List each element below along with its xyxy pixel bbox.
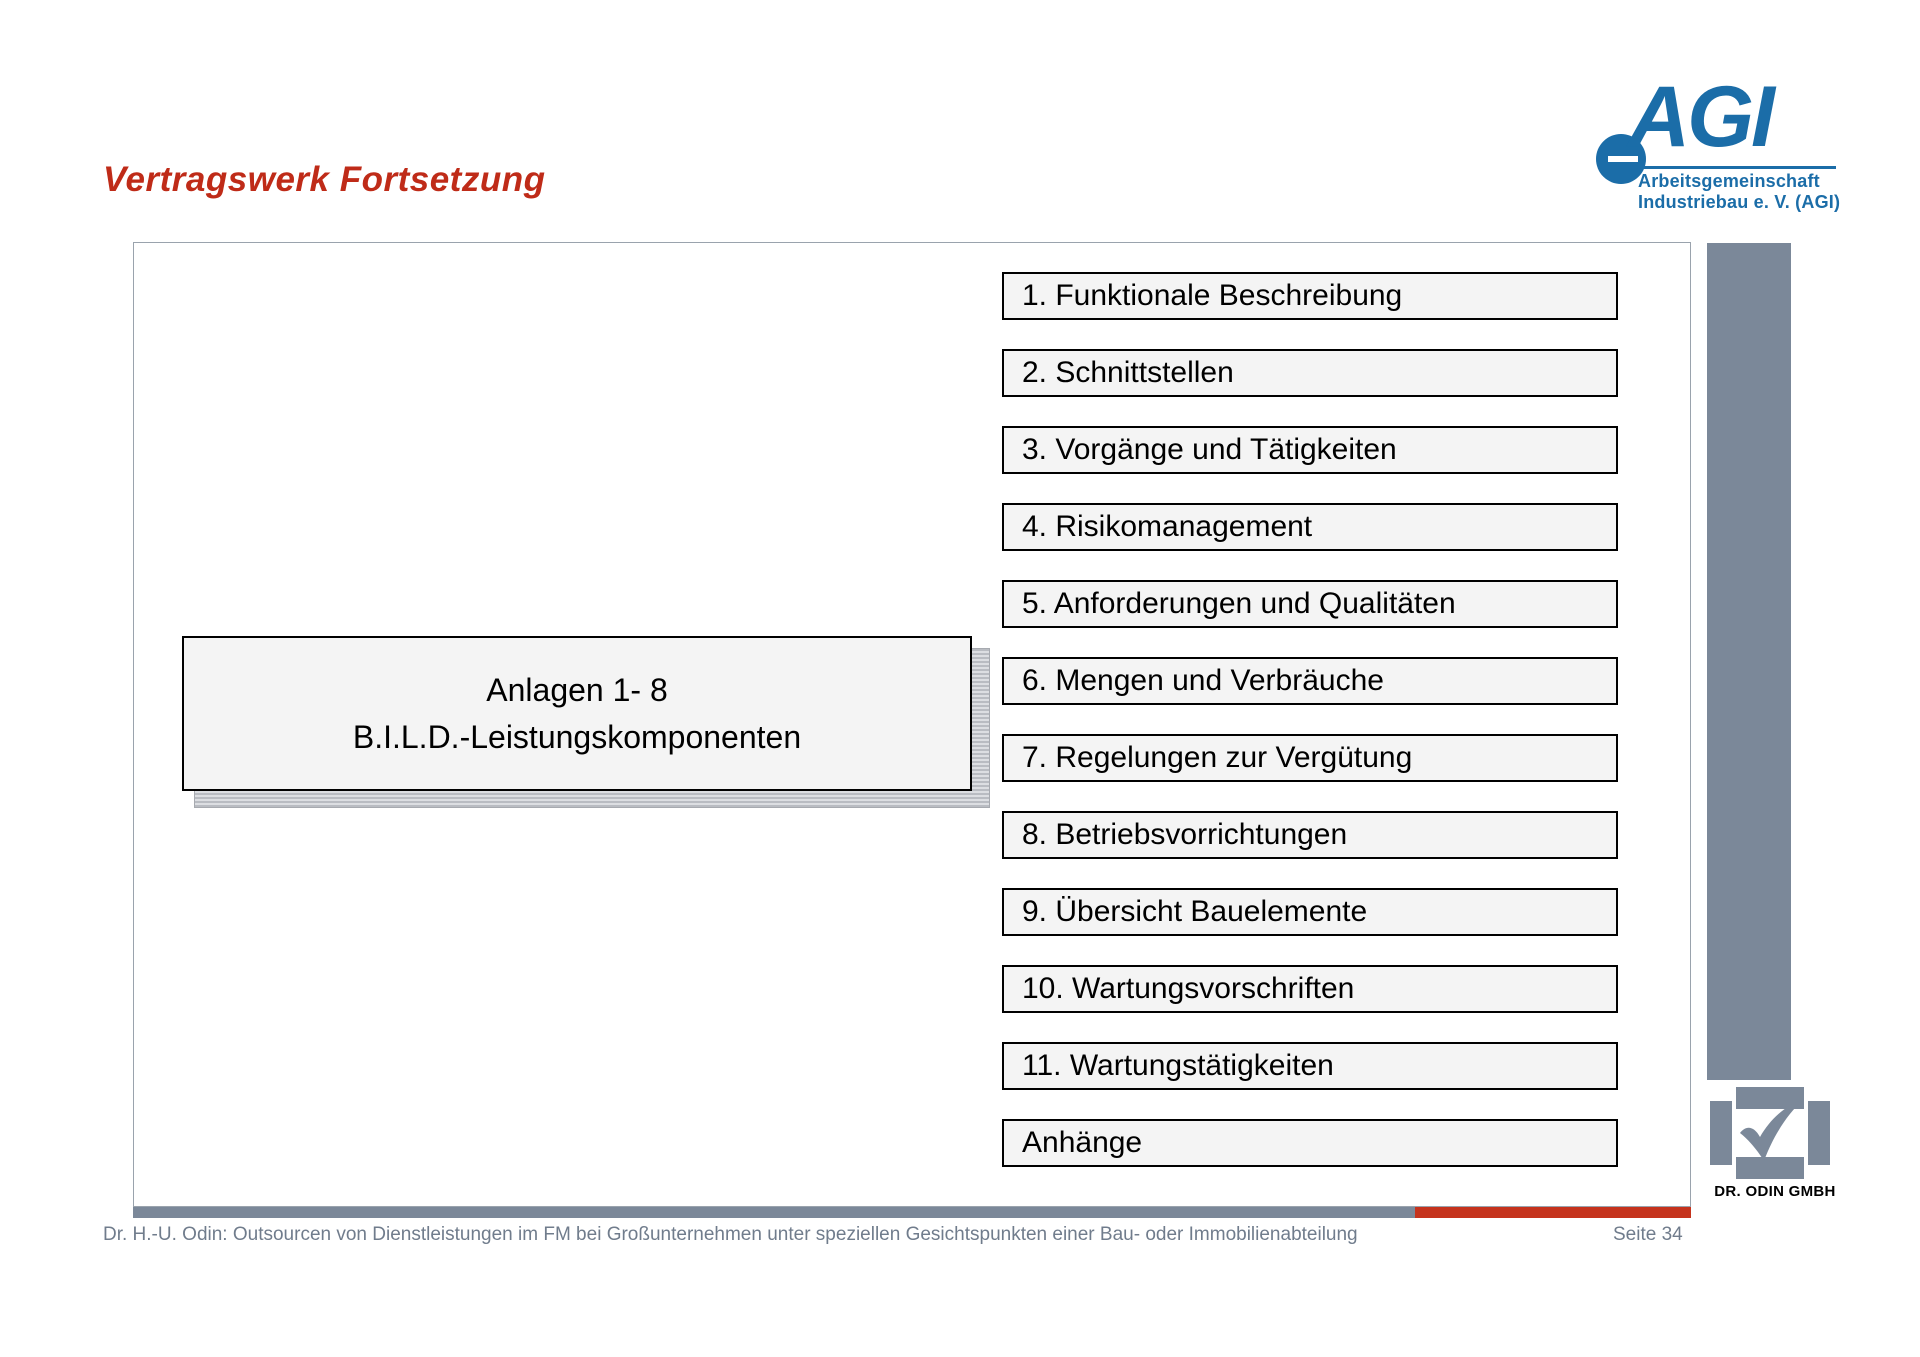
list-item-label: 7. Regelungen zur Vergütung — [1004, 741, 1412, 775]
list-item-label: 8. Betriebsvorrichtungen — [1004, 818, 1347, 852]
component-list: 1. Funktionale Beschreibung 2. Schnittst… — [1002, 272, 1618, 1196]
list-item-label: 10. Wartungsvorschriften — [1004, 972, 1354, 1006]
agi-subtitle-line2: Industriebau e. V. (AGI) — [1638, 192, 1840, 213]
list-item-label: 3. Vorgänge und Tätigkeiten — [1004, 433, 1397, 467]
list-item-label: 9. Übersicht Bauelemente — [1004, 895, 1367, 929]
agi-subtitle-line1: Arbeitsgemeinschaft — [1638, 171, 1840, 192]
list-item[interactable]: 8. Betriebsvorrichtungen — [1002, 811, 1618, 859]
odin-frame-left — [1710, 1101, 1732, 1165]
list-item[interactable]: 9. Übersicht Bauelemente — [1002, 888, 1618, 936]
footer-rule-gray — [133, 1207, 1415, 1218]
list-item[interactable]: 7. Regelungen zur Vergütung — [1002, 734, 1618, 782]
list-item[interactable]: 4. Risikomanagement — [1002, 503, 1618, 551]
list-item-label: 5. Anforderungen und Qualitäten — [1004, 587, 1456, 621]
footer-text: Dr. H.-U. Odin: Outsourcen von Dienstlei… — [103, 1224, 1358, 1246]
side-accent-bar — [1707, 243, 1791, 1080]
odin-logo: DR. ODIN GMBH — [1702, 1087, 1848, 1205]
agi-logo: AGI Arbeitsgemeinschaft Industriebau e. … — [1596, 78, 1836, 203]
list-item[interactable]: 2. Schnittstellen — [1002, 349, 1618, 397]
anlagen-box-group: Anlagen 1- 8 B.I.L.D.-Leistungskomponent… — [182, 636, 990, 808]
list-item[interactable]: Anhänge — [1002, 1119, 1618, 1167]
list-item[interactable]: 6. Mengen und Verbräuche — [1002, 657, 1618, 705]
footer-rule-red — [1415, 1207, 1691, 1218]
agi-subtitle: Arbeitsgemeinschaft Industriebau e. V. (… — [1638, 171, 1840, 213]
list-item-label: 2. Schnittstellen — [1004, 356, 1234, 390]
anlagen-line-2: B.I.L.D.-Leistungskomponenten — [353, 714, 801, 761]
checkmark-icon — [1736, 1099, 1808, 1167]
anlagen-line-1: Anlagen 1- 8 — [486, 667, 667, 714]
odin-frame-right — [1808, 1101, 1830, 1165]
list-item-label: 11. Wartungstätigkeiten — [1004, 1049, 1334, 1083]
agi-underline — [1636, 166, 1836, 169]
page-title: Vertragswerk Fortsetzung — [103, 160, 545, 200]
slide-canvas: Vertragswerk Fortsetzung AGI Arbeitsgeme… — [0, 0, 1920, 1357]
list-item[interactable]: 11. Wartungstätigkeiten — [1002, 1042, 1618, 1090]
list-item[interactable]: 10. Wartungsvorschriften — [1002, 965, 1618, 1013]
agi-wordmark: AGI — [1628, 74, 1772, 160]
list-item[interactable]: 3. Vorgänge und Tätigkeiten — [1002, 426, 1618, 474]
list-item-label: 6. Mengen und Verbräuche — [1004, 664, 1384, 698]
anlagen-box[interactable]: Anlagen 1- 8 B.I.L.D.-Leistungskomponent… — [182, 636, 972, 791]
list-item-label: 4. Risikomanagement — [1004, 510, 1312, 544]
list-item-label: 1. Funktionale Beschreibung — [1004, 279, 1402, 313]
odin-frame — [1710, 1087, 1830, 1179]
odin-logo-name: DR. ODIN GMBH — [1702, 1183, 1848, 1200]
list-item[interactable]: 1. Funktionale Beschreibung — [1002, 272, 1618, 320]
list-item[interactable]: 5. Anforderungen und Qualitäten — [1002, 580, 1618, 628]
page-number: Seite 34 — [1613, 1224, 1683, 1246]
list-item-label: Anhänge — [1004, 1126, 1142, 1160]
